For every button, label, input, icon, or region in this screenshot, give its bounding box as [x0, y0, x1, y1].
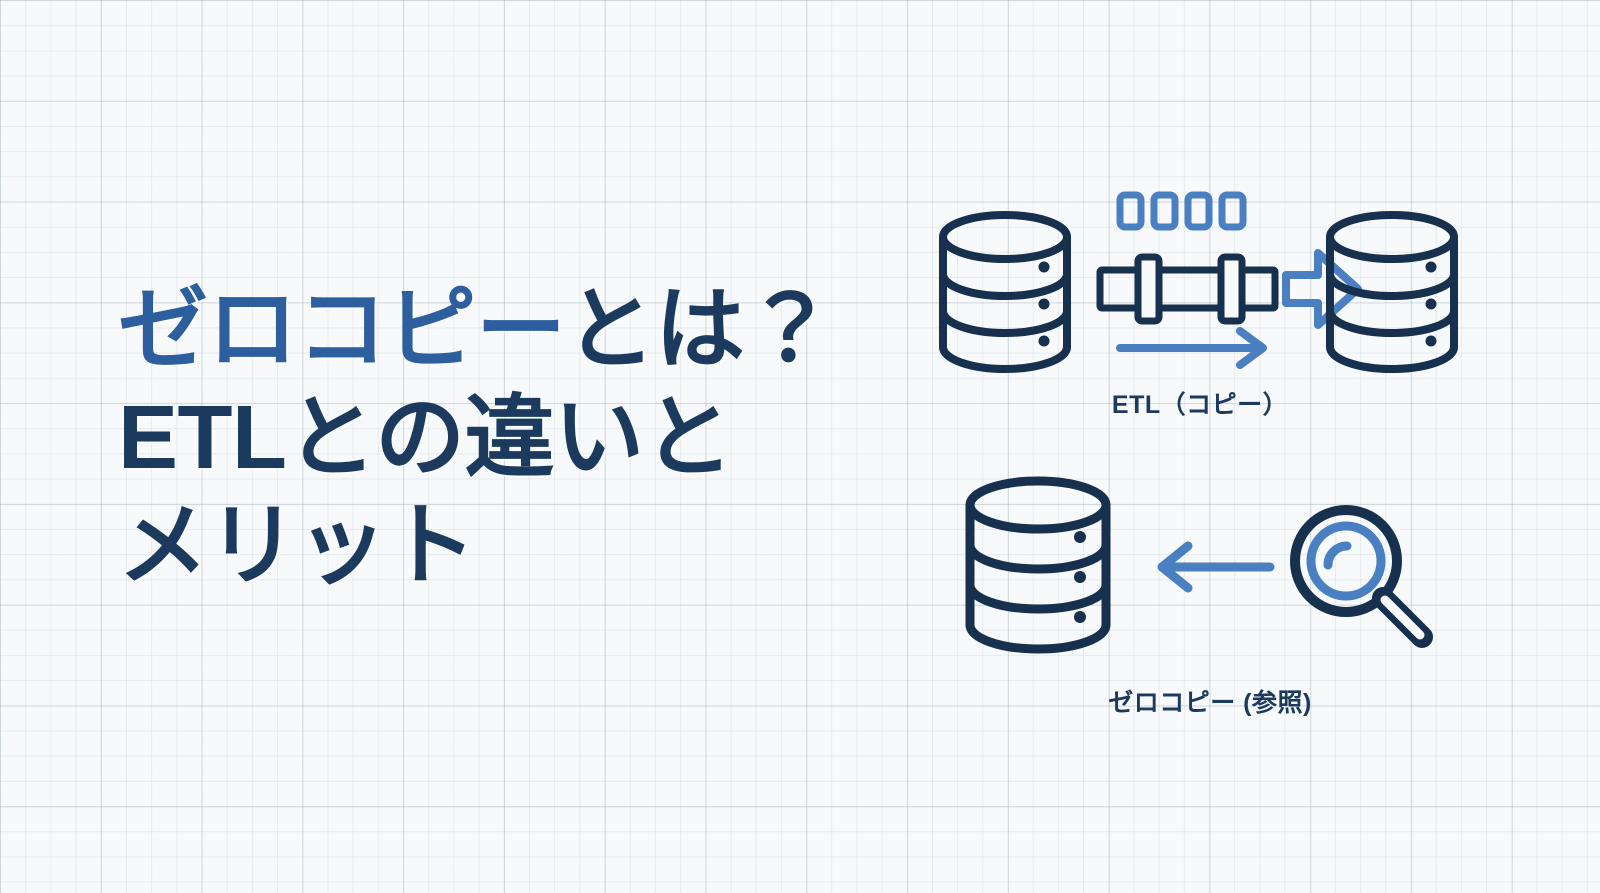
title-line-3: メリット — [118, 492, 878, 600]
zerocopy-caption: ゼロコピー (参照) — [960, 683, 1460, 719]
source-database-indicator-dots — [1039, 262, 1050, 347]
etl-diagram: ETL（コピー） — [930, 185, 1470, 435]
magnifier-inner-ring — [1311, 526, 1381, 596]
transform-pipe-icon — [1100, 270, 1275, 308]
illustration-group: ETL（コピー） — [930, 185, 1470, 745]
title-accent-text: ゼロコピー — [118, 280, 566, 380]
target-database-icon — [1330, 215, 1454, 369]
source-database-icon — [943, 215, 1067, 369]
title-line-1-rest: とは？ — [566, 280, 835, 380]
page-title: ゼロコピーとは？ ETLとの違いと メリット — [118, 276, 878, 600]
title-line-2: ETLとの違いと — [118, 384, 878, 492]
zerocopy-diagram: ゼロコピー (参照) — [960, 470, 1460, 720]
zerocopy-diagram-svg — [960, 470, 1460, 680]
etl-secondary-arrow-icon — [1120, 331, 1263, 365]
magnifier-icon — [1295, 510, 1422, 637]
data-blocks-icon — [1120, 195, 1243, 227]
target-database-indicator-dots — [1426, 262, 1437, 347]
etl-diagram-svg — [930, 185, 1470, 385]
poster-canvas: ゼロコピーとは？ ETLとの違いと メリット — [0, 0, 1600, 893]
magnifier-glare-arc — [1328, 546, 1347, 565]
title-line-1: ゼロコピーとは？ — [118, 276, 878, 384]
reference-arrow-icon — [1162, 546, 1270, 588]
zerocopy-database-icon — [970, 481, 1106, 649]
etl-caption: ETL（コピー） — [930, 385, 1470, 421]
